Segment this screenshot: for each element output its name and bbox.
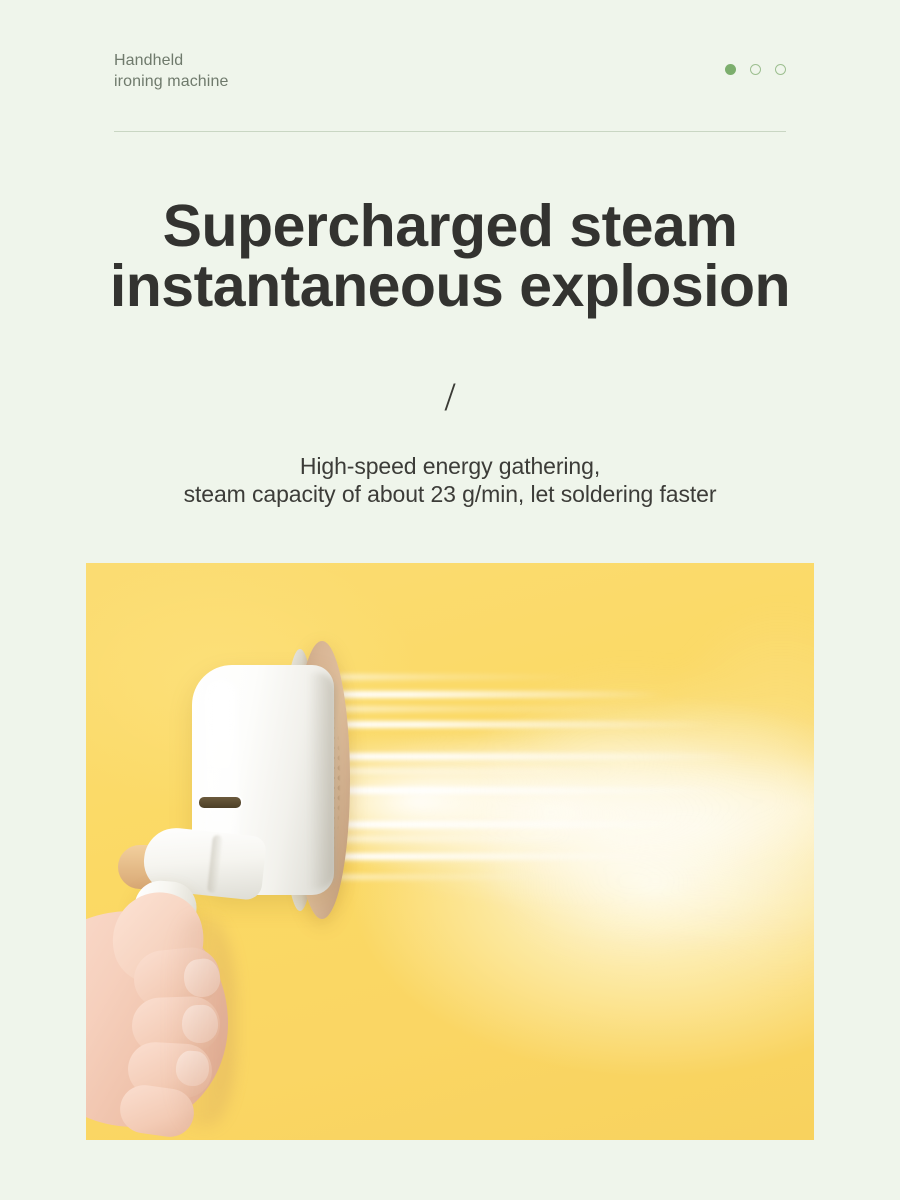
pagination-dot-3[interactable]: [775, 64, 786, 75]
device-body-shading: [308, 673, 336, 889]
product-detail-page: Handheld ironing machine Supercharged st…: [0, 0, 900, 1200]
pagination-dot-1[interactable]: [725, 64, 736, 75]
page-title: Supercharged steam instantaneous explosi…: [0, 196, 900, 316]
status-indicator: [199, 797, 241, 808]
separator-slash: /: [0, 374, 900, 420]
carousel-pagination[interactable]: [725, 64, 786, 75]
hand-shading: [166, 917, 236, 1127]
page-subtitle: High-speed energy gathering, steam capac…: [0, 452, 900, 508]
pagination-dot-2[interactable]: [750, 64, 761, 75]
page-header: Handheld ironing machine: [114, 50, 786, 130]
header-divider: [114, 131, 786, 132]
hand-holding-device: [86, 893, 276, 1140]
brand-label: Handheld ironing machine: [114, 50, 228, 92]
product-image-panel: [86, 563, 814, 1140]
